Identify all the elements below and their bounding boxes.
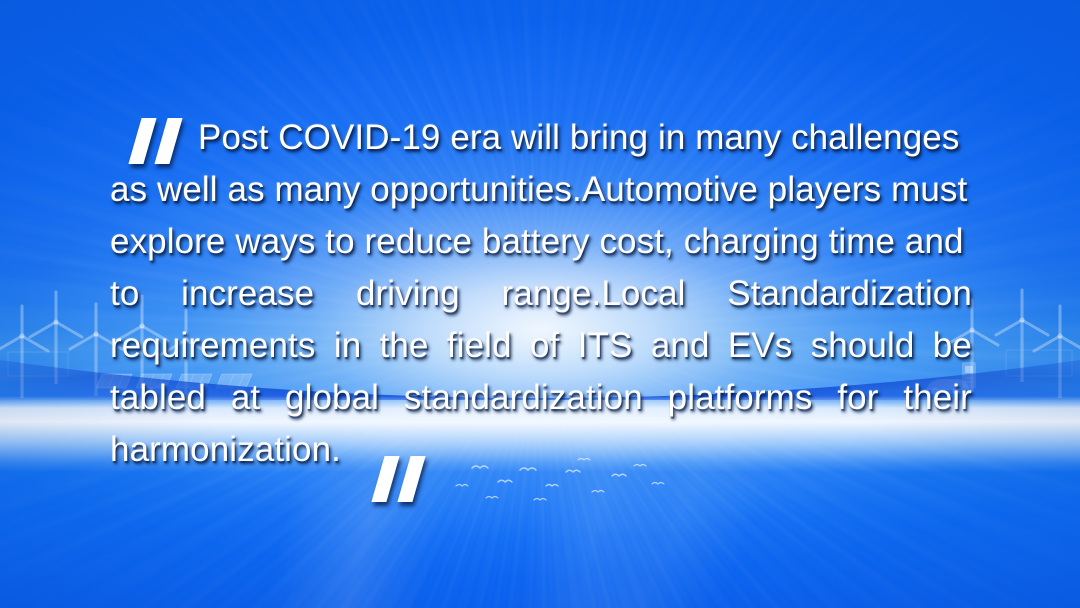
quote-word: be [933, 320, 972, 372]
quote-line-5: requirements in the field of ITS and EVs… [110, 320, 972, 372]
quote-word: of [530, 320, 559, 372]
closing-quote-icon [378, 456, 428, 504]
quote-word: driving [356, 268, 460, 320]
quote-word: Standardization [727, 268, 972, 320]
quote-line-3: explore ways to reduce battery cost, cha… [110, 216, 972, 268]
quote-line-1-text: Post COVID-19 era will bring in many cha… [198, 118, 959, 157]
quote-line-4: to increase driving range.Local Standard… [110, 268, 972, 320]
quote-word: field [447, 320, 512, 372]
quote-word: to [110, 268, 139, 320]
quote-word: global [285, 372, 379, 424]
quote-word: and [651, 320, 710, 372]
quote-word: at [231, 372, 260, 424]
quote-slide: Post COVID-19 era will bring in many cha… [0, 0, 1080, 608]
quote-line-2-text: as well as many opportunities.Automotive… [110, 170, 967, 209]
quote-line-7-text: harmonization. [110, 430, 341, 469]
quote-line-1: Post COVID-19 era will bring in many cha… [110, 112, 972, 164]
quote-word: the [380, 320, 429, 372]
quote-word: increase [181, 268, 314, 320]
quote-word: tabled [110, 372, 206, 424]
opening-quote-icon [135, 118, 185, 166]
quote-word: for [837, 372, 878, 424]
quote-word: their [903, 372, 972, 424]
quote-word: in [334, 320, 361, 372]
quote-word: should [811, 320, 915, 372]
quote-line-3-text: explore ways to reduce battery cost, cha… [110, 222, 964, 261]
quote-word: ITS [578, 320, 633, 372]
quote-word: requirements [110, 320, 315, 372]
quote-word: standardization [404, 372, 643, 424]
quote-word: range.Local [502, 268, 686, 320]
quote-line-7: harmonization. [110, 424, 972, 476]
quote-line-6: tabled at global standardization platfor… [110, 372, 972, 424]
quote-word: platforms [668, 372, 813, 424]
quote-line-2: as well as many opportunities.Automotive… [110, 164, 972, 216]
quote-text-block: Post COVID-19 era will bring in many cha… [110, 112, 972, 476]
quote-word: EVs [728, 320, 793, 372]
